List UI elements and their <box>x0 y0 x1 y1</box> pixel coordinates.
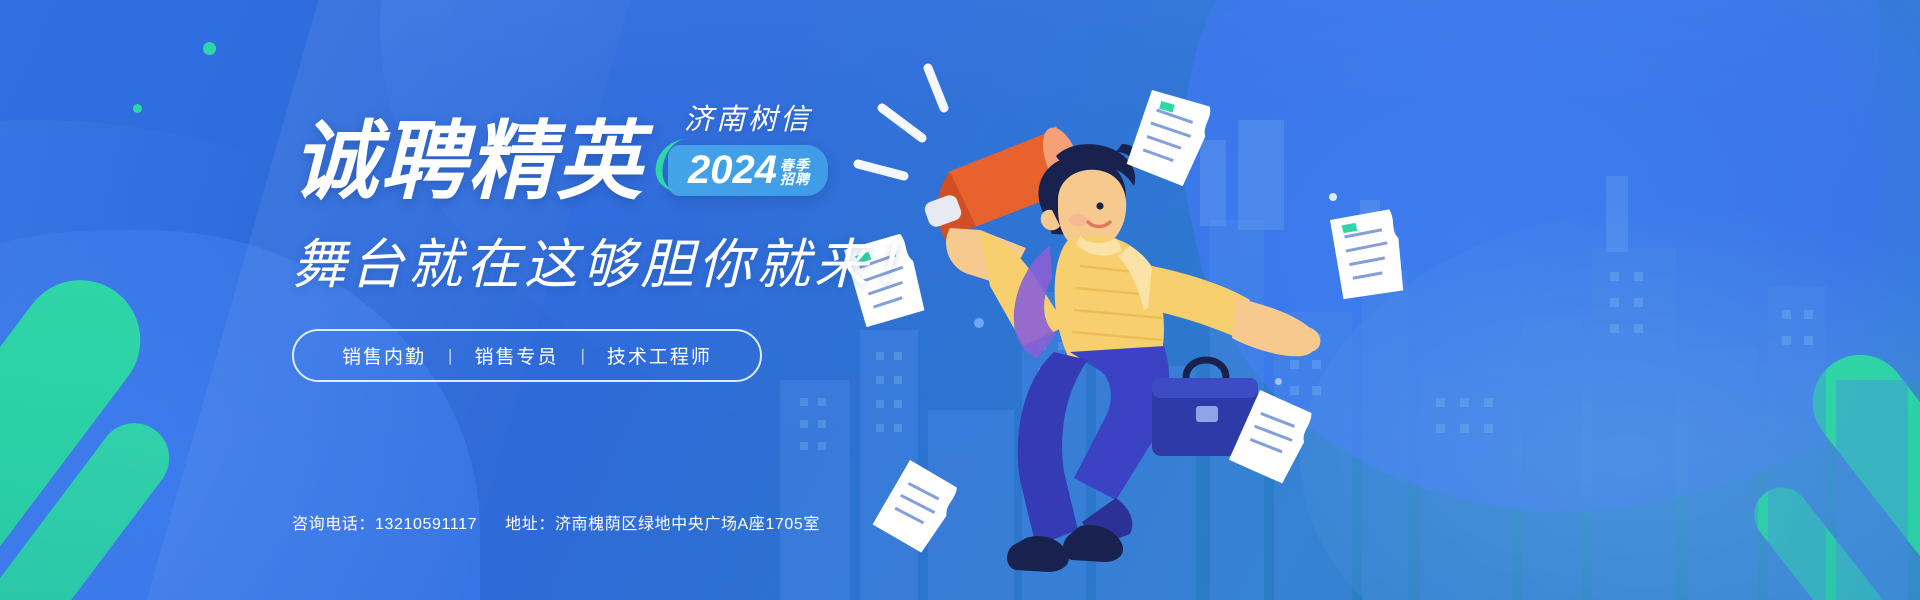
paper-5 <box>870 457 961 556</box>
contact-phone-label: 咨询电话： <box>292 516 375 533</box>
job-tags-pill: 销售内勤 | 销售专员 | 技术工程师 <box>292 329 762 382</box>
job-tag-2[interactable]: 销售专员 <box>452 342 580 369</box>
paper-1 <box>1125 89 1214 188</box>
contact-address: 地址：济南槐荫区绿地中央广场A座1705室 <box>505 510 820 534</box>
job-tag-1[interactable]: 销售内勤 <box>320 342 448 369</box>
contact-phone-value: 13210591117 <box>375 516 477 533</box>
decorative-dot-teal-1 <box>203 42 216 55</box>
badge-block: 济南树信 2024 春季 招聘 <box>668 96 828 204</box>
badge-season-line-1: 春季 <box>780 158 810 173</box>
company-name: 济南树信 <box>668 96 828 138</box>
contact-phone: 咨询电话：13210591117 <box>292 510 477 534</box>
season-badge: 2024 春季 招聘 <box>668 145 828 196</box>
badge-season: 春季 招聘 <box>780 158 810 190</box>
banner-text-column: 诚聘精英 济南树信 2024 春季 招聘 舞台就在这够胆你就来！ 销售内勤 | … <box>292 96 992 382</box>
job-tag-3[interactable]: 技术工程师 <box>585 342 734 369</box>
person-right-arm <box>1148 266 1320 356</box>
badge-season-line-2: 招聘 <box>780 172 810 187</box>
page-subtitle: 舞台就在这够胆你就来！ <box>292 220 992 299</box>
decorative-dot-teal-2 <box>133 104 142 113</box>
badge-year: 2024 <box>688 150 777 190</box>
paper-2 <box>1324 205 1411 305</box>
page-title: 诚聘精英 <box>292 121 644 204</box>
person-pants <box>1018 346 1170 546</box>
headline-row: 诚聘精英 济南树信 2024 春季 招聘 <box>292 96 992 204</box>
contact-address-value: 济南槐荫区绿地中央广场A座1705室 <box>555 516 820 533</box>
recruitment-banner: 诚聘精英 济南树信 2024 春季 招聘 舞台就在这够胆你就来！ 销售内勤 | … <box>0 0 1920 600</box>
contact-row: 咨询电话：13210591117 地址：济南槐荫区绿地中央广场A座1705室 <box>292 510 820 534</box>
contact-address-label: 地址： <box>505 516 555 533</box>
